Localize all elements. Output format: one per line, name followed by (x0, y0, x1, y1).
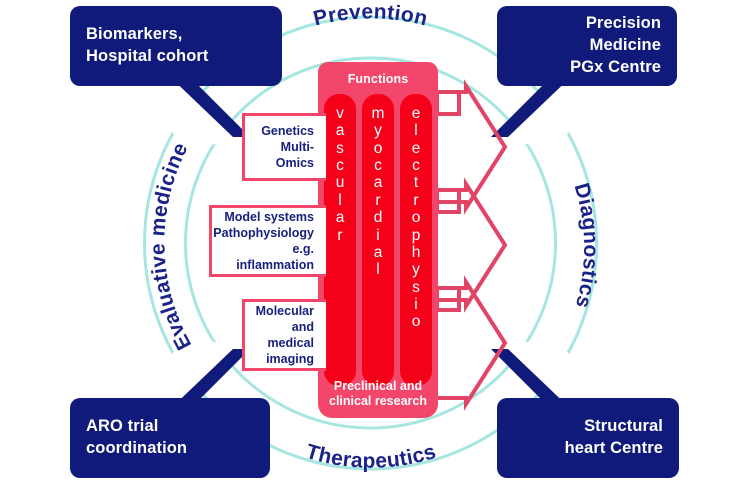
pillar-letter: d (362, 209, 394, 226)
pillar-letter: s (324, 140, 356, 157)
input-box-line: and medical (253, 319, 314, 351)
ring-label-therapeutics: Therapeutics (303, 440, 438, 473)
pillar-letter: r (324, 227, 356, 244)
pillar-letter: o (362, 140, 394, 157)
pillar-letter: o (400, 313, 432, 330)
pillar-letter: i (362, 227, 394, 244)
corner-box-line-1: Structural (584, 416, 663, 438)
pillar-letter: h (400, 244, 432, 261)
input-box-line: Genetics (261, 123, 314, 139)
pillar-letter: l (362, 261, 394, 278)
corner-box-biomarkers[interactable]: Biomarkers, Hospital cohort (70, 6, 282, 86)
pillar-letter: a (362, 174, 394, 191)
corner-box-line-2: Hospital cohort (86, 46, 209, 68)
pillar-letter: a (324, 209, 356, 226)
pillar-letter: s (400, 279, 432, 296)
pillar-electrophysio[interactable]: electrophysio (400, 94, 432, 386)
pillar-letter: c (362, 157, 394, 174)
pillar-letter: a (362, 244, 394, 261)
pillar-letter: a (324, 122, 356, 139)
corner-box-line-1: ARO trial (86, 416, 158, 438)
corner-box-aro-trial[interactable]: ARO trial coordination (70, 398, 270, 478)
function-pillars: vascular myocardial electrophysio (324, 94, 432, 386)
pillar-letter: y (400, 261, 432, 278)
input-box-model-systems[interactable]: Model systems Pathophysiology e.g. infla… (209, 205, 326, 277)
pillar-letter: y (362, 122, 394, 139)
ring-label-evaluative-medicine: Evaluative medicine (146, 139, 196, 354)
chevron-tab-1 (437, 92, 459, 114)
corner-box-line-2: PGx Centre (570, 57, 661, 79)
pillar-letter: c (324, 157, 356, 174)
corner-box-line-1: Precision Medicine (513, 13, 661, 57)
input-box-line: Molecular (256, 303, 314, 319)
pillar-vascular[interactable]: vascular (324, 94, 356, 386)
corner-box-structural-heart[interactable]: Structural heart Centre (497, 398, 679, 478)
pillar-letter: c (400, 157, 432, 174)
corner-box-line-2: coordination (86, 438, 187, 460)
preclinical-footer-line-1: Preclinical and (334, 379, 422, 393)
outcome-chevrons (437, 86, 505, 404)
preclinical-footer: Preclinical and clinical research (318, 379, 438, 410)
input-box-line: Pathophysiology (213, 225, 314, 241)
input-box-line: Model systems (224, 209, 314, 225)
ring-label-prevention: Prevention (311, 0, 430, 30)
pillar-letter: l (400, 122, 432, 139)
diagram-canvas: Prevention Therapeutics Evaluative medic… (0, 0, 741, 486)
pillar-letter: u (324, 174, 356, 191)
pillar-myocardial[interactable]: myocardial (362, 94, 394, 386)
pillar-letter: r (400, 192, 432, 209)
input-box-genetics-multi-omics[interactable]: Genetics Multi-Omics (242, 113, 326, 181)
pillar-letter: i (400, 296, 432, 313)
input-box-molecular-imaging[interactable]: Molecular and medical imaging (242, 299, 326, 371)
pillar-letter: m (362, 105, 394, 122)
preclinical-footer-line-2: clinical research (329, 394, 427, 408)
input-box-line: e.g. inflammation (220, 241, 314, 273)
corner-box-precision-medicine[interactable]: Precision Medicine PGx Centre (497, 6, 677, 86)
pillar-letter: l (324, 192, 356, 209)
pillar-letter: r (362, 192, 394, 209)
corner-box-line-1: Biomarkers, (86, 24, 182, 46)
functions-panel: Functions vascular myocardial electrophy… (318, 62, 438, 418)
pillar-letter: p (400, 227, 432, 244)
pillar-letter: v (324, 105, 356, 122)
functions-header: Functions (318, 72, 438, 86)
corner-box-line-2: heart Centre (565, 438, 663, 460)
input-box-line: imaging (266, 351, 314, 367)
input-box-line: Multi-Omics (253, 139, 314, 171)
pillar-letter: e (400, 140, 432, 157)
pillar-letter: e (400, 105, 432, 122)
pillar-letter: o (400, 209, 432, 226)
pillar-letter: t (400, 174, 432, 191)
ring-label-diagnostics: Diagnostics (570, 181, 603, 311)
